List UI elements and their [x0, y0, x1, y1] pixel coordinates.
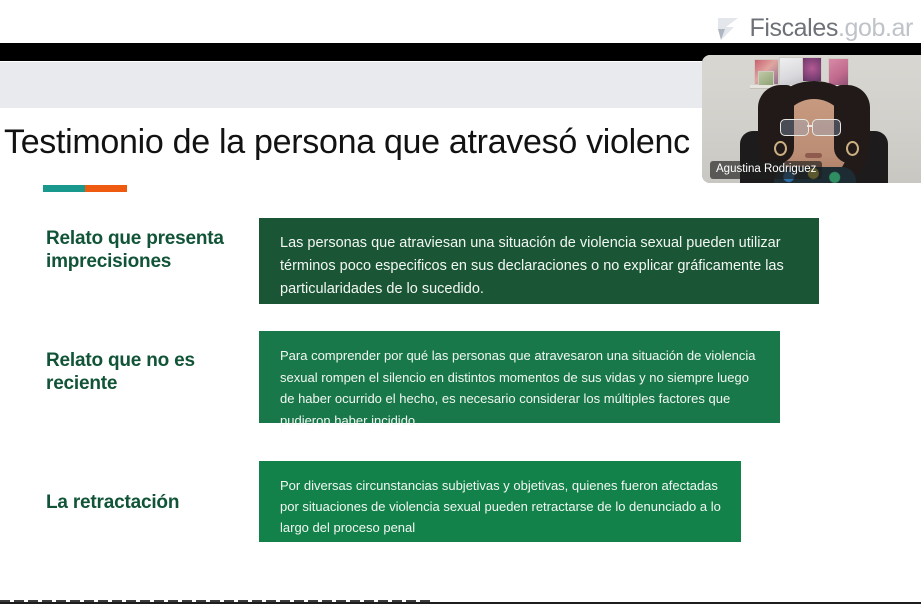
- screen-root: Fiscales.gob.ar Testimonio de la persona…: [0, 0, 921, 614]
- brand-name-primary: Fiscales: [749, 14, 838, 42]
- video-tile[interactable]: Agustina Rodriguez: [702, 55, 921, 183]
- row-label: La retractación: [46, 491, 261, 514]
- earring-left: [774, 141, 787, 156]
- title-accent-bar: [43, 185, 127, 192]
- lightning-flag-icon: [716, 16, 740, 42]
- glasses-lens-right: [812, 119, 841, 136]
- wall-poster: [828, 58, 849, 86]
- row-label: Relato que no es reciente: [46, 349, 261, 395]
- glasses-lens-left: [780, 119, 809, 136]
- participant-mouth: [805, 153, 822, 158]
- bottom-white-band: [0, 604, 921, 614]
- row-callout-box: Para comprender por qué las personas que…: [259, 331, 780, 423]
- glasses-icon: [780, 119, 848, 134]
- wall-poster: [802, 57, 822, 82]
- page-title: Testimonio de la persona que atravesó vi…: [4, 123, 690, 162]
- row-body-text: Las personas que atraviesan una situació…: [280, 232, 801, 301]
- earring-right: [846, 141, 859, 156]
- participant-name-badge: Agustina Rodriguez: [710, 161, 822, 179]
- row-label: Relato que presenta imprecisiones: [46, 227, 261, 273]
- accent-segment-teal: [43, 185, 85, 192]
- row-callout-box: Las personas que atraviesan una situació…: [259, 218, 819, 304]
- content-row: La retractación Por diversas circunstanc…: [0, 461, 921, 551]
- brand-logo: Fiscales.gob.ar: [716, 14, 913, 43]
- content-row: Relato que presenta imprecisiones Las pe…: [0, 218, 921, 313]
- brand-name-secondary: .gob.ar: [838, 14, 913, 42]
- row-body-text: Para comprender por qué las personas que…: [280, 345, 762, 431]
- row-callout-box: Por diversas circunstancias subjetivas y…: [259, 461, 741, 542]
- content-row: Relato que no es reciente Para comprende…: [0, 331, 921, 431]
- accent-segment-orange: [85, 185, 127, 192]
- brand-wordmark: Fiscales.gob.ar: [749, 14, 913, 43]
- row-body-text: Por diversas circunstancias subjetivas y…: [280, 475, 723, 538]
